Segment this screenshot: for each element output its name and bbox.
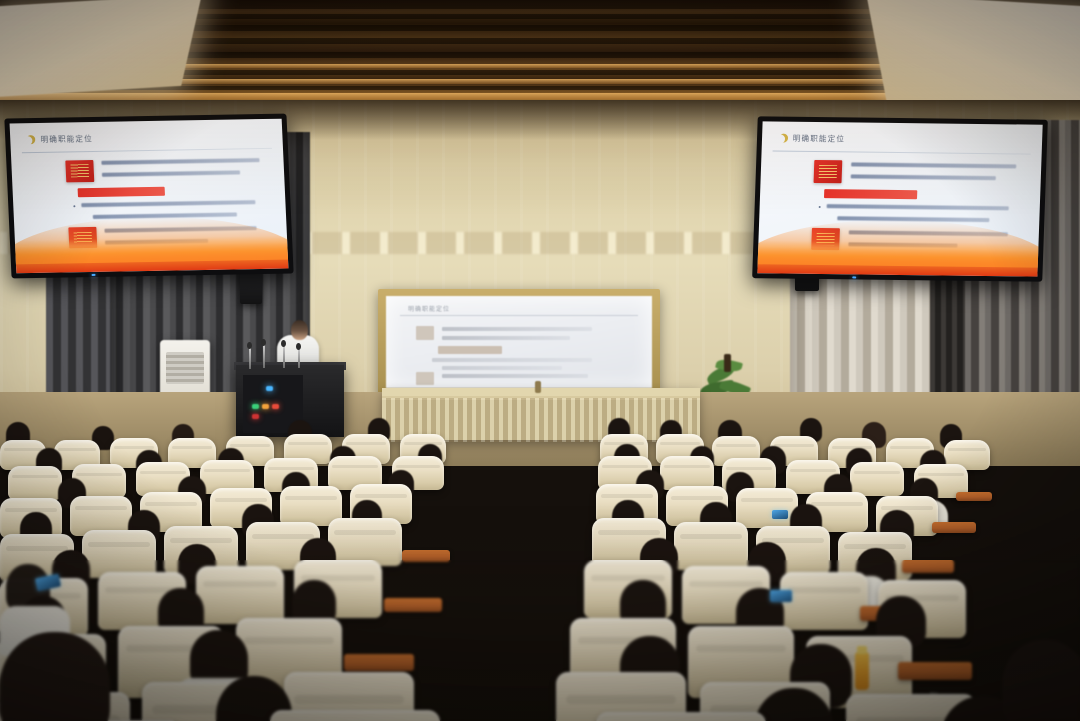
- left-slide-title: 明确职能定位: [40, 133, 93, 145]
- seat: [82, 530, 156, 578]
- seat: [596, 712, 766, 721]
- right-slide-banner: [824, 189, 917, 199]
- right-slide-footer-wave: [757, 218, 1042, 267]
- bottle-cap: [857, 646, 867, 654]
- smartphone-icon: [772, 510, 788, 519]
- center-slide-line-2: [442, 336, 570, 340]
- desk-tablet: [956, 492, 992, 501]
- center-slide-line-4: [442, 366, 562, 370]
- table-object: [535, 381, 541, 393]
- desk-tablet: [898, 662, 972, 680]
- microphone-stand-2: [263, 344, 265, 368]
- seat: [674, 522, 748, 570]
- left-slide-footer-wave: [10, 214, 289, 264]
- center-slide-line-5: [442, 374, 588, 378]
- ceiling-light-panel-left: [0, 0, 202, 98]
- right-tv-display[interactable]: 明确职能定位: [752, 116, 1048, 281]
- center-slide-banner: [438, 346, 502, 354]
- air-conditioner-vent: [166, 352, 204, 384]
- crescent-moon-icon: [26, 134, 35, 143]
- foreground-head-right: [1002, 640, 1080, 721]
- desk-tablet: [932, 522, 976, 533]
- right-slide-line-1: [851, 162, 1016, 168]
- seat: [328, 518, 402, 566]
- desk-tablet: [344, 654, 414, 671]
- seat: [780, 572, 868, 630]
- microphone-head-1: [247, 342, 252, 349]
- desk-tablet: [402, 550, 450, 562]
- crescent-moon-icon: [779, 133, 788, 142]
- microphone-head-4: [296, 343, 301, 350]
- desk-tablet: [902, 560, 954, 573]
- left-tv-power-led-icon: [91, 274, 95, 276]
- wall-speaker-left: [240, 270, 262, 304]
- left-slide-badge-1: [66, 159, 94, 182]
- center-slide-rule: [400, 315, 638, 316]
- center-slide-line-1: [442, 327, 592, 331]
- left-slide-line-1: [101, 158, 259, 165]
- right-slide: 明确职能定位: [757, 121, 1042, 276]
- center-projection-screen: 明确职能定位: [386, 296, 652, 388]
- microphone-stand-3: [283, 345, 285, 368]
- led-blue-icon: [266, 386, 273, 391]
- center-slide-badge-2: [416, 372, 434, 385]
- right-slide-title: 明确职能定位: [793, 132, 846, 144]
- center-slide-title: 明确职能定位: [408, 304, 450, 313]
- right-slide-line-3: [827, 204, 1009, 210]
- seat: [660, 456, 714, 490]
- seat: [270, 710, 440, 721]
- center-slide-badge-1: [416, 326, 434, 340]
- right-slide-badge-1: [814, 160, 843, 183]
- drink-bottle: [855, 652, 869, 690]
- microphone-stand-4: [298, 348, 300, 368]
- seat: [736, 488, 798, 528]
- lecture-hall-photo: 明确职能定位 明确职能定位: [0, 0, 1080, 721]
- microphone-head-3: [281, 340, 286, 347]
- right-tv-power-led-icon: [852, 276, 856, 278]
- left-slide-line-3: [81, 200, 255, 207]
- audience-seating: [0, 400, 1080, 721]
- right-slide-line-2: [850, 174, 996, 180]
- left-tv-display[interactable]: 明确职能定位: [4, 114, 293, 279]
- left-slide-line-2: [102, 170, 241, 176]
- seat: [850, 462, 904, 496]
- seat: [196, 566, 284, 624]
- seat: [8, 466, 62, 500]
- smartphone-recording-icon: [770, 590, 792, 602]
- desk-tablet: [384, 598, 442, 612]
- presenter-head: [291, 320, 308, 340]
- center-slide-line-3: [432, 358, 592, 362]
- left-slide-banner: [78, 187, 165, 198]
- left-slide: 明确职能定位: [10, 119, 289, 274]
- microphone-stand-1: [249, 347, 251, 369]
- microphone-head-2: [261, 339, 266, 346]
